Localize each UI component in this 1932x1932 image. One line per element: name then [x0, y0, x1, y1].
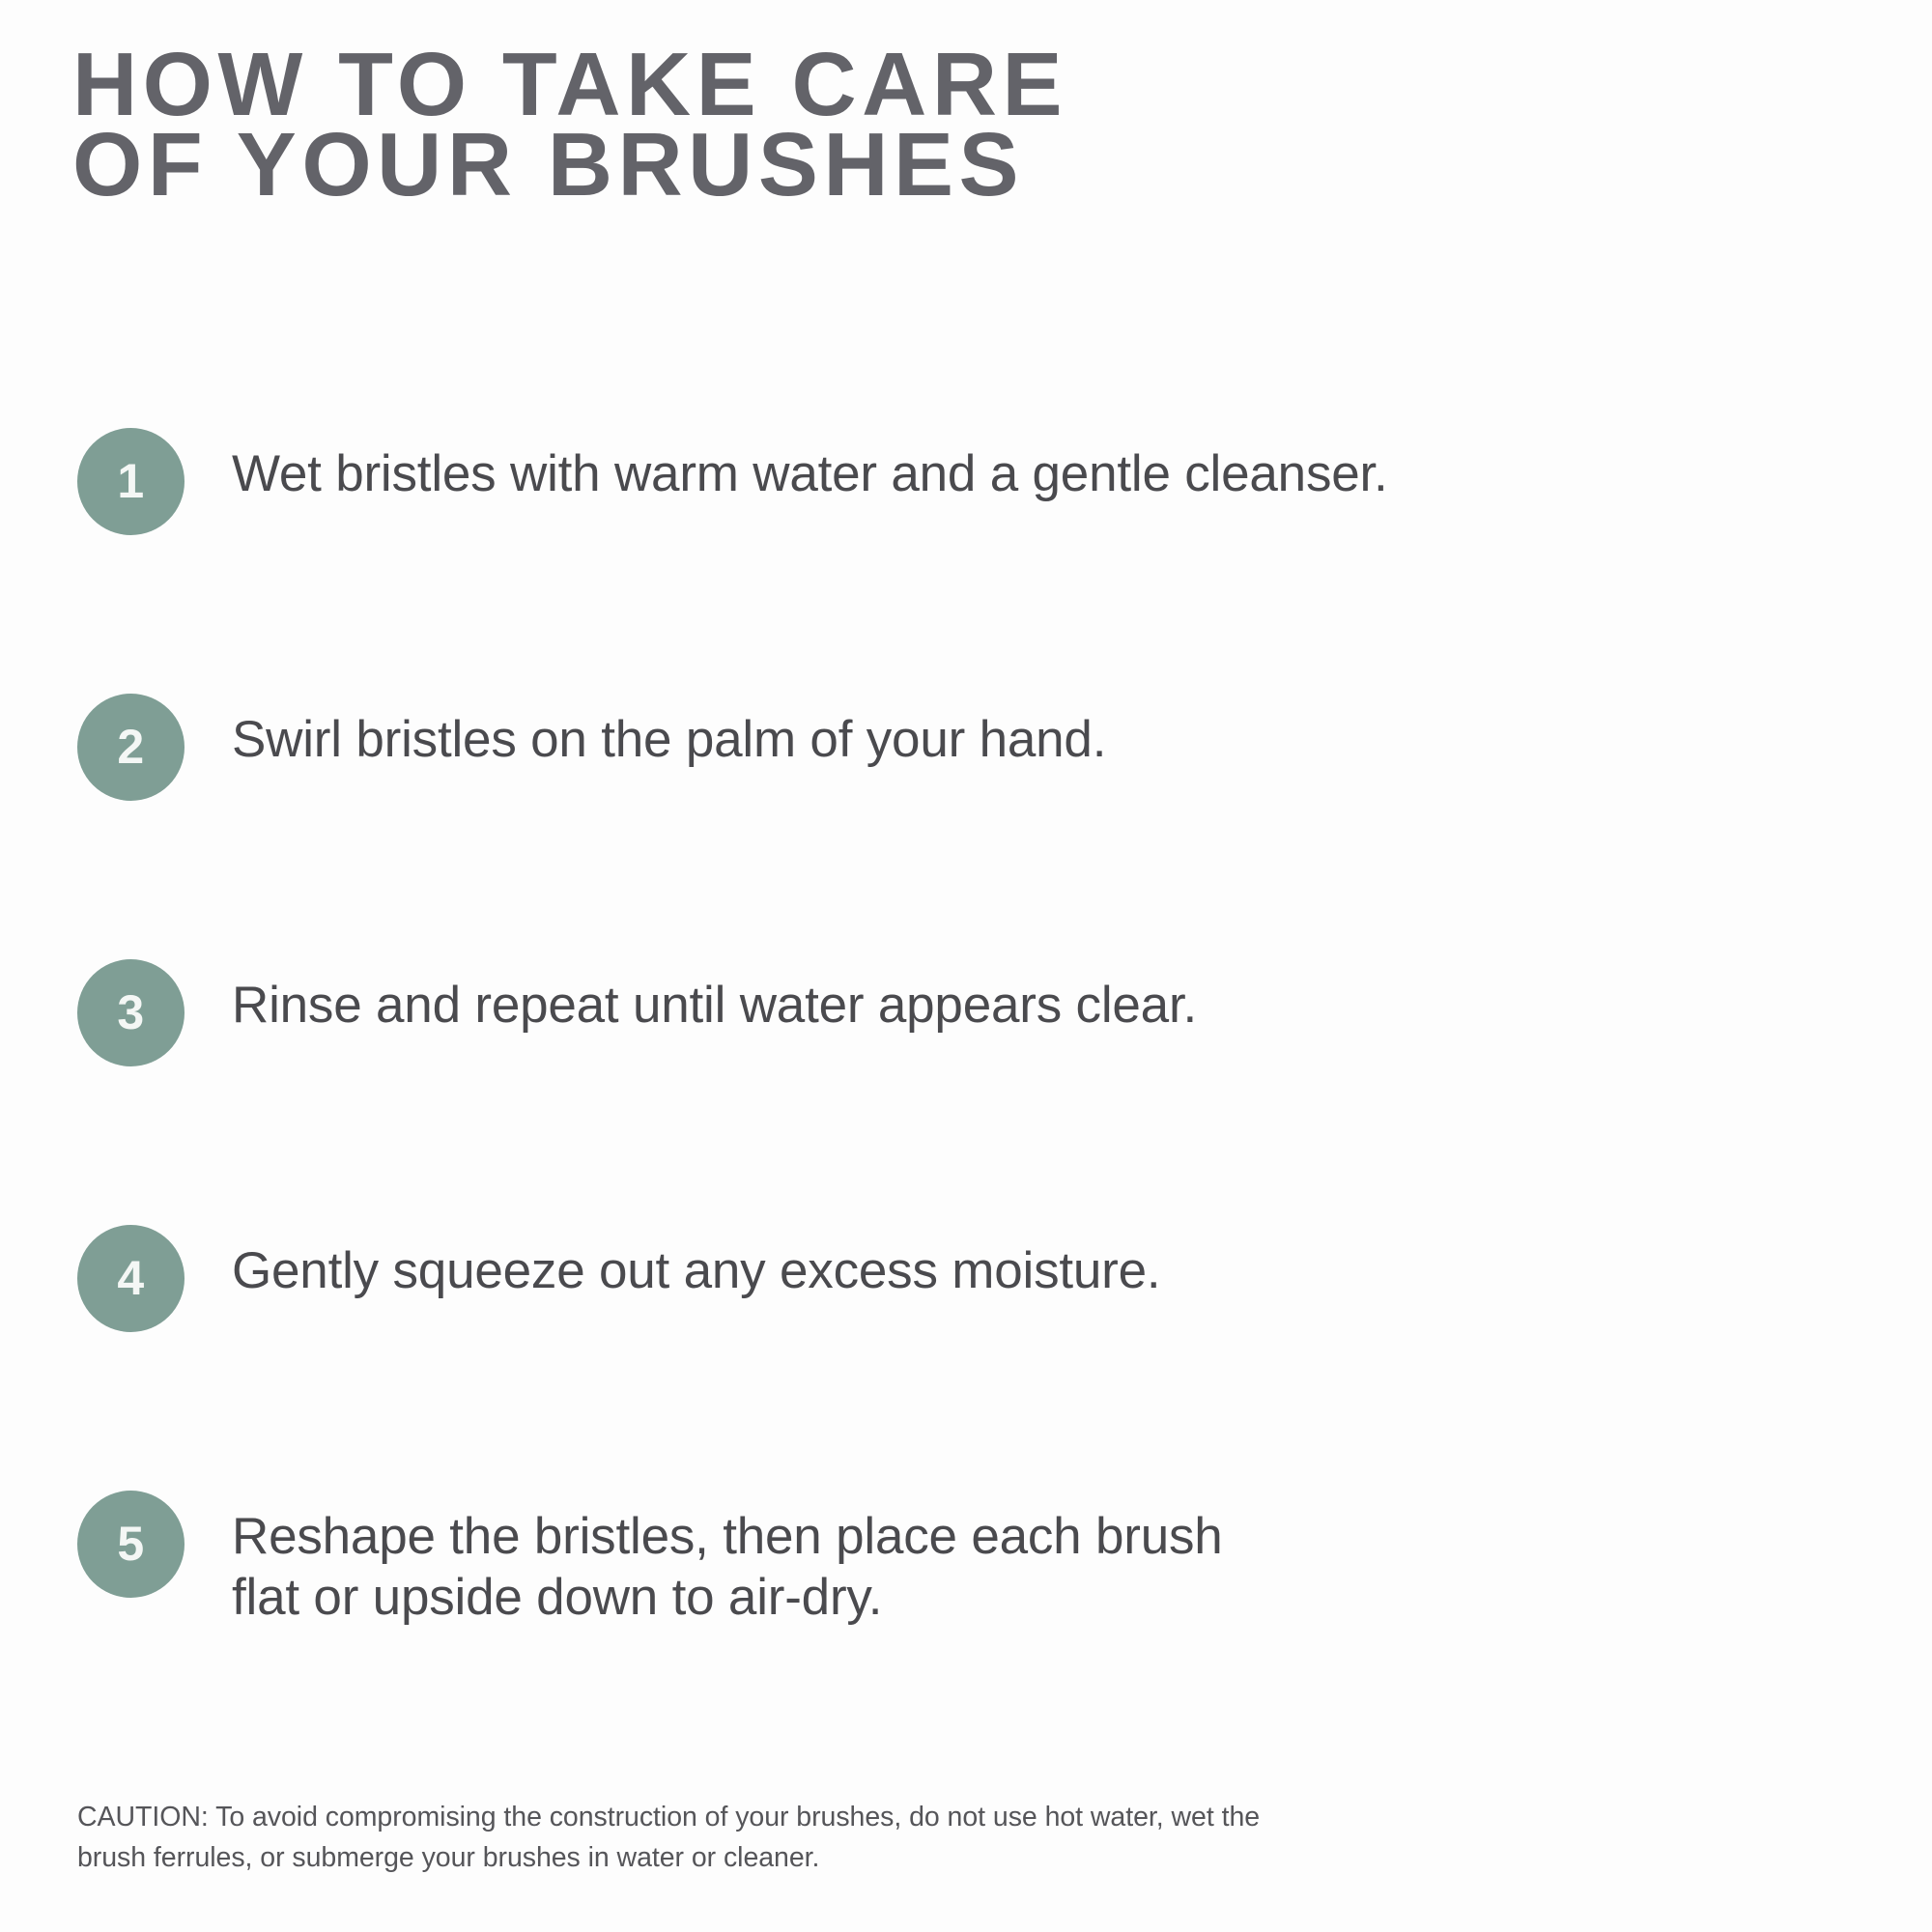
step-number-label-1: 1 — [117, 457, 144, 505]
step-item-1: 1 Wet bristles with warm water and a gen… — [77, 428, 1855, 544]
step-text-1: Wet bristles with warm water and a gentl… — [232, 443, 1388, 504]
step-number-badge-5: 5 — [77, 1491, 185, 1598]
step-number-label-2: 2 — [117, 723, 144, 771]
step-item-3: 3 Rinse and repeat until water appears c… — [77, 959, 1855, 1075]
step-item-4: 4 Gently squeeze out any excess moisture… — [77, 1225, 1855, 1341]
step-item-2: 2 Swirl bristles on the palm of your han… — [77, 694, 1855, 810]
step-number-badge-4: 4 — [77, 1225, 185, 1332]
step-text-2: Swirl bristles on the palm of your hand. — [232, 709, 1106, 770]
step-text-3: Rinse and repeat until water appears cle… — [232, 975, 1197, 1036]
page-title: HOW TO TAKE CARE OF YOUR BRUSHES — [72, 44, 1618, 205]
step-number-label-4: 4 — [117, 1254, 144, 1302]
page-title-line-1: HOW TO TAKE CARE — [72, 44, 1618, 125]
step-number-label-3: 3 — [117, 988, 144, 1037]
step-number-badge-3: 3 — [77, 959, 185, 1066]
step-number-label-5: 5 — [117, 1520, 144, 1568]
step-text-4: Gently squeeze out any excess moisture. — [232, 1240, 1160, 1301]
caution-note: CAUTION: To avoid compromising the const… — [77, 1797, 1816, 1878]
step-text-5: Reshape the bristles, then place each br… — [232, 1506, 1223, 1628]
step-item-5: 5 Reshape the bristles, then place each … — [77, 1491, 1855, 1606]
step-number-badge-2: 2 — [77, 694, 185, 801]
step-number-badge-1: 1 — [77, 428, 185, 535]
brush-care-instruction-card: HOW TO TAKE CARE OF YOUR BRUSHES 1 Wet b… — [0, 0, 1932, 1932]
page-title-line-2: OF YOUR BRUSHES — [72, 125, 1618, 205]
